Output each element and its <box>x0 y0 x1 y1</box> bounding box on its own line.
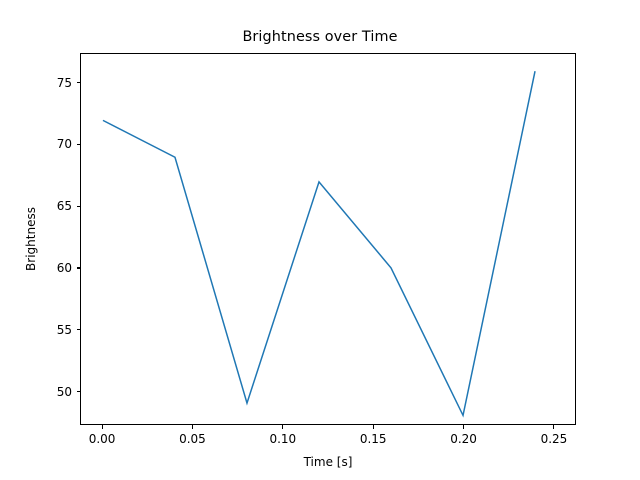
y-tick-mark <box>77 82 81 83</box>
y-tick-mark <box>77 329 81 330</box>
y-tick-label: 60 <box>40 261 72 275</box>
y-tick-mark <box>77 267 81 268</box>
x-tick-label: 0.25 <box>541 432 568 446</box>
x-tick-label: 0.05 <box>179 432 206 446</box>
x-tick-label: 0.15 <box>360 432 387 446</box>
chart-title: Brightness over Time <box>0 29 640 45</box>
y-tick-label: 65 <box>40 199 72 213</box>
y-axis-label: Brightness <box>24 207 38 271</box>
x-tick-label: 0.10 <box>269 432 296 446</box>
line-series-brightness <box>81 54 575 424</box>
x-tick-label: 0.00 <box>89 432 116 446</box>
x-tick-mark <box>553 425 554 429</box>
x-tick-mark <box>192 425 193 429</box>
plot-area <box>80 53 576 425</box>
x-axis-label: Time [s] <box>80 455 576 469</box>
y-tick-mark <box>77 391 81 392</box>
y-tick-label: 55 <box>40 323 72 337</box>
x-tick-mark <box>463 425 464 429</box>
y-tick-mark <box>77 144 81 145</box>
x-tick-label: 0.20 <box>450 432 477 446</box>
y-tick-label: 50 <box>40 385 72 399</box>
x-tick-mark <box>102 425 103 429</box>
y-tick-mark <box>77 206 81 207</box>
chart-figure: Brightness over Time 505560657075 0.000.… <box>0 0 640 480</box>
x-tick-mark <box>373 425 374 429</box>
y-tick-label: 75 <box>40 76 72 90</box>
series-polyline <box>103 71 535 415</box>
y-tick-label: 70 <box>40 137 72 151</box>
x-tick-mark <box>282 425 283 429</box>
